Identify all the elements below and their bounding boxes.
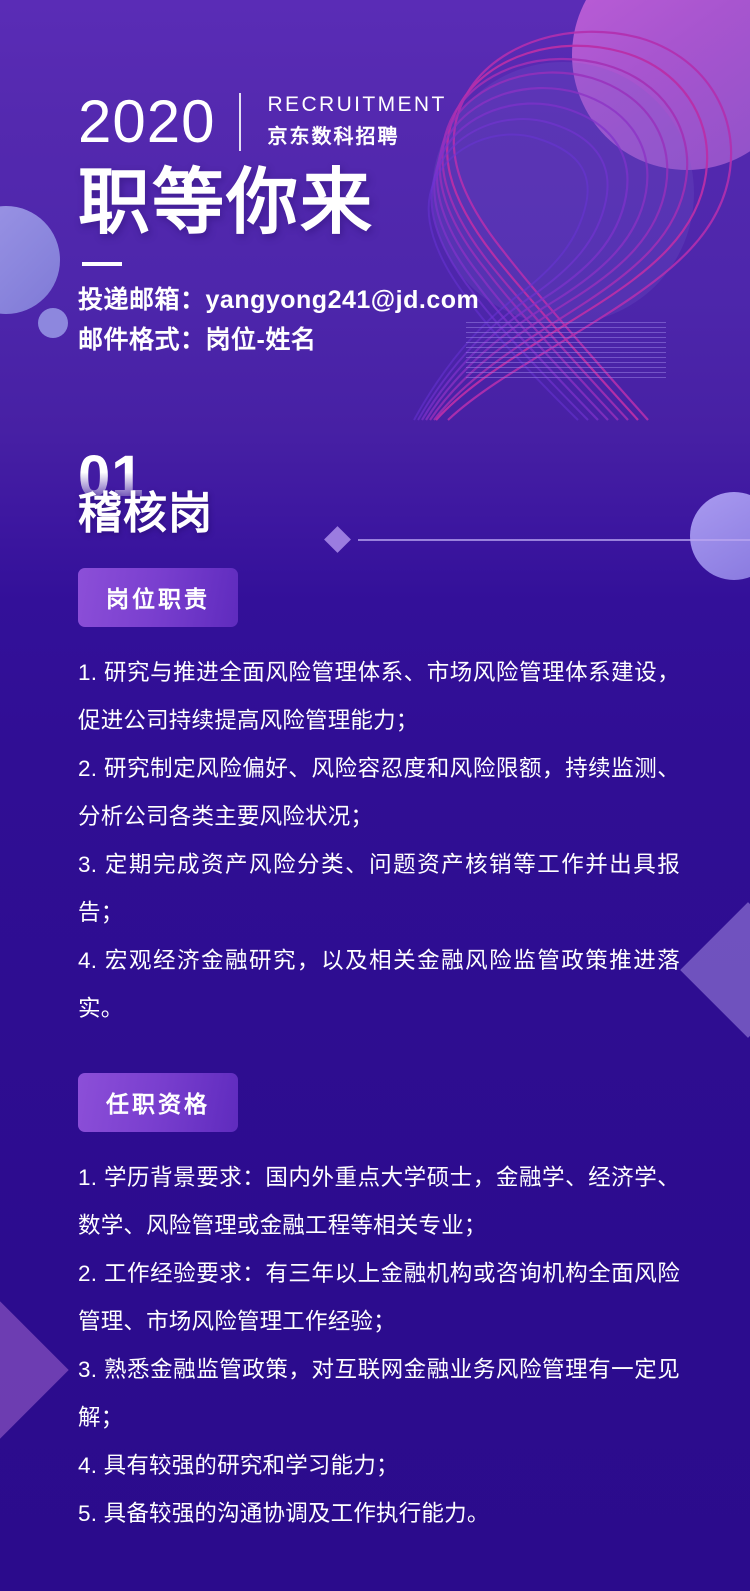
section-spacer bbox=[78, 1033, 750, 1063]
email-format-label: 邮件格式： bbox=[78, 326, 206, 354]
job-title: 稽核岗 bbox=[78, 488, 213, 540]
poster-header: 2020 RECRUITMENT 京东数科招聘 职等你来 投递邮箱：yangyo… bbox=[0, 0, 750, 360]
horizontal-rule bbox=[82, 262, 122, 266]
diamond-bullet-icon bbox=[324, 526, 351, 553]
list-item: 2. 工作经验要求：有三年以上金融机构或咨询机构全面风险管理、市场风险管理工作经… bbox=[78, 1250, 680, 1346]
requirements-badge: 任职资格 bbox=[78, 1073, 238, 1132]
email-label: 投递邮箱： bbox=[78, 286, 206, 314]
list-item: 3. 熟悉金融监管政策，对互联网金融业务风险管理有一定见解； bbox=[78, 1346, 680, 1442]
email-format-value: 岗位-姓名 bbox=[206, 326, 317, 354]
duties-list: 1. 研究与推进全面风险管理体系、市场风险管理体系建设，促进公司持续提高风险管理… bbox=[78, 649, 750, 1033]
year-text: 2020 bbox=[78, 92, 215, 152]
recruitment-poster: 2020 RECRUITMENT 京东数科招聘 职等你来 投递邮箱：yangyo… bbox=[0, 0, 750, 1591]
email-format-line: 邮件格式：岗位-姓名 bbox=[78, 320, 750, 360]
list-item: 1. 研究与推进全面风险管理体系、市场风险管理体系建设，促进公司持续提高风险管理… bbox=[78, 649, 680, 745]
list-item: 3. 定期完成资产风险分类、问题资产核销等工作并出具报告； bbox=[78, 841, 680, 937]
list-item: 5. 具备较强的沟通协调及工作执行能力。 bbox=[78, 1490, 680, 1538]
list-item: 1. 学历背景要求：国内外重点大学硕士，金融学、经济学、数学、风险管理或金融工程… bbox=[78, 1154, 680, 1250]
email-line: 投递邮箱：yangyong241@jd.com bbox=[78, 280, 750, 320]
title-line bbox=[358, 539, 750, 541]
list-item: 4. 宏观经济金融研究，以及相关金融风险监管政策推进落实。 bbox=[78, 937, 680, 1033]
vertical-divider bbox=[239, 93, 241, 151]
year-subtitle-group: RECRUITMENT 京东数科招聘 bbox=[267, 92, 446, 152]
year-row: 2020 RECRUITMENT 京东数科招聘 bbox=[78, 0, 750, 152]
job-section-01: 01 稽核岗 岗位职责 1. 研究与推进全面风险管理体系、市场风险管理体系建设，… bbox=[0, 448, 750, 1538]
list-item: 2. 研究制定风险偏好、风险容忍度和风险限额，持续监测、分析公司各类主要风险状况… bbox=[78, 745, 680, 841]
duties-badge: 岗位职责 bbox=[78, 568, 238, 627]
requirements-list: 1. 学历背景要求：国内外重点大学硕士，金融学、经济学、数学、风险管理或金融工程… bbox=[78, 1154, 750, 1538]
company-name: 京东数科招聘 bbox=[267, 122, 446, 152]
job-title-decoration bbox=[328, 530, 750, 549]
slogan-text: 职等你来 bbox=[78, 164, 750, 242]
list-item: 4. 具有较强的研究和学习能力； bbox=[78, 1442, 680, 1490]
email-value[interactable]: yangyong241@jd.com bbox=[206, 286, 480, 314]
job-heading: 01 稽核岗 bbox=[78, 448, 750, 558]
recruitment-label: RECRUITMENT bbox=[267, 92, 446, 118]
